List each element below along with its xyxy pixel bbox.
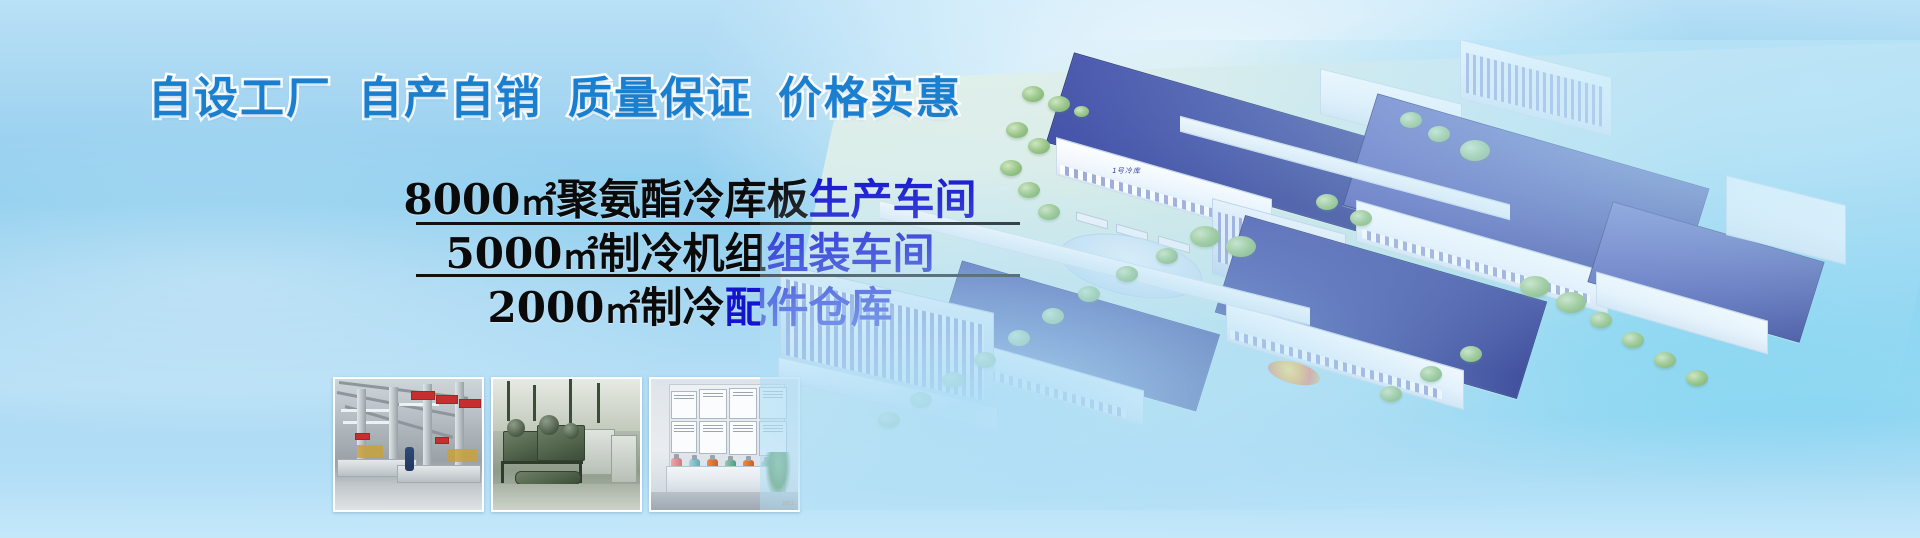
headline-item-2: 质量保证 xyxy=(568,73,752,124)
line-0-subject: 聚氨酯冷库板 xyxy=(556,175,808,224)
tree xyxy=(1190,226,1220,247)
highlight-line-0: 8000㎡聚氨酯冷库板生产车间 xyxy=(330,176,1050,226)
tree xyxy=(1654,352,1676,368)
tree xyxy=(1400,112,1422,128)
tree xyxy=(1420,366,1442,382)
headline-item-3: 价格实惠 xyxy=(778,73,962,124)
tree xyxy=(1380,386,1402,402)
tree xyxy=(1028,138,1050,154)
tree xyxy=(910,392,932,408)
line-2-subject: 制冷 xyxy=(640,283,724,332)
highlight-lines: 8000㎡聚氨酯冷库板生产车间 5000㎡制冷机组组装车间 2000㎡制冷配件仓… xyxy=(330,176,1050,334)
tree xyxy=(1116,266,1138,282)
highlight-line-1: 5000㎡制冷机组组装车间 xyxy=(330,230,1050,280)
line-2-area: 2000 xyxy=(488,283,605,332)
photo-exhibition-booth: 2011 xyxy=(649,377,800,512)
photo-timestamp: 2011 xyxy=(782,501,794,507)
tree xyxy=(1590,312,1612,328)
tree xyxy=(1000,160,1022,176)
tree xyxy=(1686,370,1708,386)
line-0-area: 8000 xyxy=(404,175,521,224)
rule-0 xyxy=(416,222,1020,225)
rule-1 xyxy=(416,274,1020,277)
photo-compressor-units-image xyxy=(493,379,640,510)
line-1-unit: ㎡ xyxy=(562,235,598,277)
tree xyxy=(974,352,996,368)
photo-workshop-interior-image xyxy=(335,379,482,510)
headline-item-1: 自产自销 xyxy=(358,73,542,124)
line-1-area: 5000 xyxy=(446,229,563,278)
tree xyxy=(1316,194,1338,210)
warehouse-a-sign: 1号冷库 xyxy=(1111,166,1143,176)
line-1-subject: 制冷机组 xyxy=(598,229,766,278)
tree xyxy=(1460,140,1490,161)
photo-exhibition-booth-image: 2011 xyxy=(651,379,798,510)
tree xyxy=(1556,292,1586,313)
tree xyxy=(1350,210,1372,226)
tree xyxy=(1428,126,1450,142)
tree xyxy=(1520,276,1550,297)
tree xyxy=(1460,346,1482,362)
promo-banner: 1号冷库 3号冷库 xyxy=(0,0,1920,538)
photo-compressor-units xyxy=(491,377,642,512)
line-0-emphasis: 生产车间 xyxy=(808,175,976,224)
highlight-line-2: 2000㎡制冷配件仓库 xyxy=(330,284,1050,334)
tree xyxy=(1226,236,1256,257)
line-2-unit: ㎡ xyxy=(604,289,640,331)
headline-item-0: 自设工厂 xyxy=(148,73,332,124)
tree xyxy=(942,372,964,388)
tree xyxy=(1622,332,1644,348)
photo-strip: 2011 xyxy=(333,377,800,512)
tree xyxy=(1078,286,1100,302)
line-1-emphasis: 组装车间 xyxy=(766,229,934,278)
line-0-unit: ㎡ xyxy=(520,181,556,223)
tree xyxy=(878,412,900,428)
line-2-emphasis: 配件仓库 xyxy=(724,283,892,332)
tree xyxy=(1156,248,1178,264)
headline: 自设工厂自产自销质量保证价格实惠 xyxy=(0,74,1110,124)
tree xyxy=(1006,122,1028,138)
photo-workshop-interior xyxy=(333,377,484,512)
